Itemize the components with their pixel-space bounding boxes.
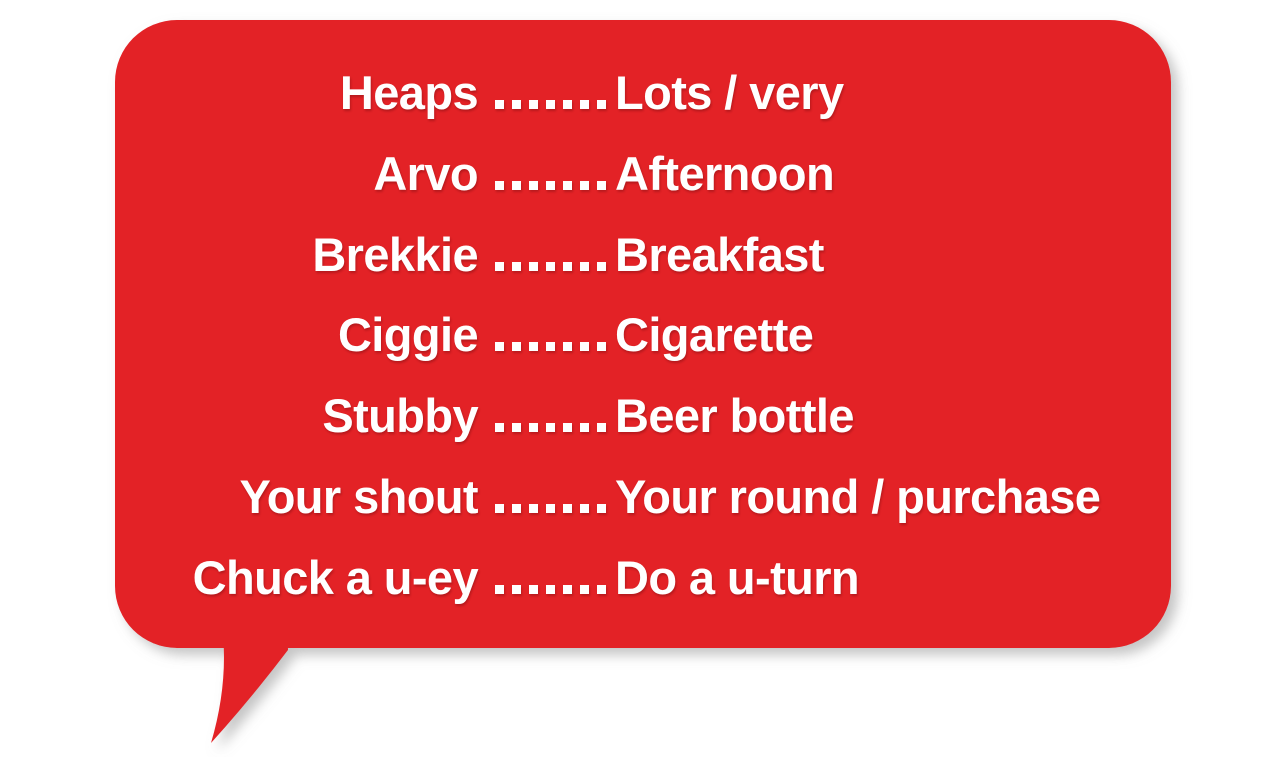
dotted-leader-icon bbox=[488, 392, 613, 439]
dotted-leader-icon bbox=[488, 311, 613, 358]
glossary-row: Ciggie Cigarette bbox=[120, 295, 1170, 376]
glossary-row: Arvo Afternoon bbox=[120, 133, 1170, 214]
slang-glossary-list: Heaps Lots / very Arvo Afternoon Brekkie… bbox=[120, 20, 1170, 648]
dotted-leader-icon bbox=[488, 554, 613, 601]
glossary-term: Stubby bbox=[120, 392, 488, 439]
glossary-row: Your shout Your round / purchase bbox=[120, 456, 1170, 537]
glossary-row: Heaps Lots / very bbox=[120, 52, 1170, 133]
glossary-definition: Cigarette bbox=[613, 311, 1170, 358]
glossary-term: Your shout bbox=[120, 473, 488, 520]
glossary-term: Arvo bbox=[120, 150, 488, 197]
glossary-row: Brekkie Breakfast bbox=[120, 214, 1170, 295]
dotted-leader-icon bbox=[488, 473, 613, 520]
glossary-term: Heaps bbox=[120, 69, 488, 116]
glossary-row: Stubby Beer bottle bbox=[120, 375, 1170, 456]
glossary-definition: Your round / purchase bbox=[613, 473, 1170, 520]
glossary-term: Brekkie bbox=[120, 231, 488, 278]
dotted-leader-icon bbox=[488, 150, 613, 197]
glossary-definition: Beer bottle bbox=[613, 392, 1170, 439]
speech-bubble-graphic: Heaps Lots / very Arvo Afternoon Brekkie… bbox=[0, 0, 1280, 757]
glossary-term: Ciggie bbox=[120, 311, 488, 358]
glossary-definition: Lots / very bbox=[613, 69, 1170, 116]
dotted-leader-icon bbox=[488, 69, 613, 116]
glossary-definition: Do a u-turn bbox=[613, 554, 1170, 601]
glossary-term: Chuck a u-ey bbox=[120, 554, 488, 601]
glossary-definition: Breakfast bbox=[613, 231, 1170, 278]
glossary-definition: Afternoon bbox=[613, 150, 1170, 197]
dotted-leader-icon bbox=[488, 231, 613, 278]
glossary-row: Chuck a u-ey Do a u-turn bbox=[120, 537, 1170, 618]
